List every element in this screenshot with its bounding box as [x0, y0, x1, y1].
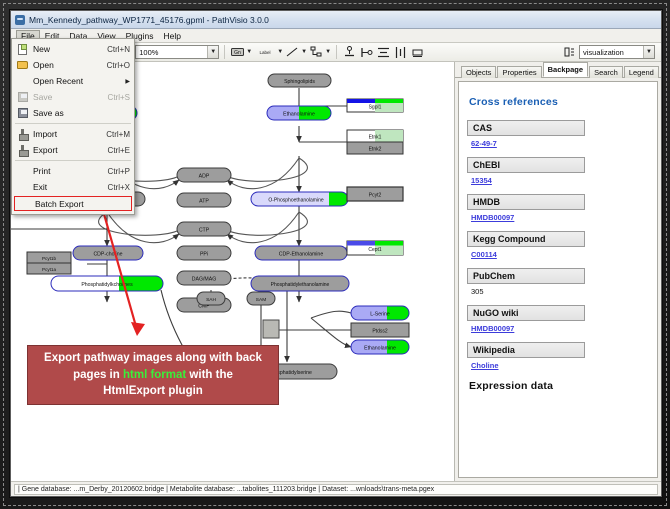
file-menu-label: Open Recent	[33, 76, 125, 86]
node-label: Phosphatidylkcholines	[81, 282, 133, 288]
chevron-down-icon[interactable]: ▼	[246, 49, 252, 55]
save-disk-icon	[16, 91, 29, 104]
tab-legend[interactable]: Legend	[624, 66, 659, 78]
file-menu-dropdown[interactable]: New Ctrl+N Open Ctrl+O Open Recent ▶ Sav…	[11, 38, 135, 215]
file-menu-shortcut: Ctrl+O	[101, 61, 130, 70]
xref-value[interactable]: C00114	[467, 250, 649, 259]
node-sah[interactable]: SAH	[197, 292, 225, 305]
callout-line-2-pre: pages in	[73, 369, 123, 381]
xref-key: NuGO wiki	[467, 305, 585, 321]
svg-text:Gn: Gn	[234, 50, 241, 56]
sidebar-tabstrip: Objects Properties Backpage Search Legen…	[455, 62, 661, 78]
gene-label: Etnk1	[369, 135, 382, 141]
gene-label: Pcyt2	[369, 193, 382, 199]
cross-references-heading: Cross references	[469, 96, 649, 108]
gene-label: Pcyt1a	[42, 267, 56, 272]
chevron-down-icon[interactable]: ▼	[643, 46, 654, 58]
statusbar: | Gene database: ...m_Derby_20120602.bri…	[11, 481, 661, 496]
xref-link[interactable]: HMDB00097	[471, 324, 514, 333]
label-icon[interactable]: Label	[254, 45, 276, 60]
file-menu-item-import[interactable]: Import Ctrl+M	[12, 126, 134, 142]
xref-value[interactable]: HMDB00097	[467, 213, 649, 222]
node-phosphatidylethanolamine[interactable]: Phosphatidylethanolamine	[251, 276, 349, 291]
callout-line-2-post: with the	[186, 369, 233, 381]
xref-value[interactable]: Choline	[467, 361, 649, 370]
toolbar-separator	[336, 45, 337, 59]
screenshot-root: Mm_Kennedy_pathway_WP1771_45176.gpml - P…	[0, 0, 670, 509]
node-label: L-Serine	[370, 311, 390, 317]
file-menu-item-open[interactable]: Open Ctrl+O	[12, 57, 134, 73]
node-cdp-ethanolamine[interactable]: CDP-Ethanolamine	[255, 246, 347, 260]
gene-sgpl1[interactable]: Sgpl1	[347, 99, 403, 112]
file-menu-shortcut: Ctrl+X	[102, 183, 130, 192]
tab-objects[interactable]: Objects	[461, 66, 496, 78]
zoom-combobox[interactable]: 100% ▼	[135, 45, 219, 59]
statusbar-text: | Gene database: ...m_Derby_20120602.bri…	[14, 484, 658, 495]
chevron-right-icon: ▶	[125, 78, 130, 85]
xref-key: ChEBI	[467, 157, 585, 173]
visualization-combobox[interactable]: visualization ▼	[579, 45, 655, 59]
file-menu-label: Exit	[33, 182, 102, 192]
node-label: ADP	[199, 173, 210, 179]
sidebar: Objects Properties Backpage Search Legen…	[455, 62, 661, 481]
file-menu-item-save-as[interactable]: Save as	[12, 105, 134, 121]
gene-cept1[interactable]: Cept1	[347, 241, 403, 255]
visualization-value: visualization	[583, 48, 643, 57]
tab-backpage[interactable]: Backpage	[543, 62, 588, 77]
file-menu-label: Save as	[33, 108, 124, 118]
xref-cas: CAS 62-49-7	[467, 120, 649, 148]
datanode-icon[interactable]: Gn	[230, 45, 245, 60]
file-menu-item-new[interactable]: New Ctrl+N	[12, 41, 134, 57]
node-label: DAG/MAG	[192, 276, 217, 282]
line-icon[interactable]	[285, 45, 300, 60]
xref-chebi: ChEBI 15354	[467, 157, 649, 185]
gene-pcyt1a[interactable]: Pcyt1a	[27, 263, 71, 274]
node-o-phosphoethanolamine[interactable]: O-Phosphoethanolamine	[251, 192, 348, 206]
new-document-icon	[16, 43, 29, 56]
file-menu-label: Save	[33, 92, 102, 102]
blank-icon	[16, 165, 29, 178]
callout-line-1: Export pathway images along with back	[44, 350, 262, 367]
file-menu-item-save: Save Ctrl+S	[12, 89, 134, 105]
node-cdp-choline[interactable]: CDP-choline	[73, 246, 143, 260]
xref-value: 305	[467, 287, 649, 296]
export-icon	[16, 144, 29, 157]
xref-link[interactable]: 15354	[471, 176, 492, 185]
gene-ptdss2[interactable]: Ptdss2	[351, 323, 409, 337]
callout-highlight: html format	[123, 369, 186, 381]
node-label: Sphingolipids	[284, 79, 315, 85]
gene-pcyt2[interactable]: Pcyt2	[347, 187, 403, 201]
node-adp[interactable]: ADP	[177, 168, 231, 182]
node-l-serine[interactable]: L-Serine	[351, 306, 409, 320]
node-label: SAH	[206, 297, 216, 303]
node-label: CTP	[199, 227, 210, 233]
file-menu-shortcut: Ctrl+S	[102, 93, 130, 102]
xref-key: Kegg Compound	[467, 231, 585, 247]
group-icon[interactable]	[410, 45, 425, 60]
file-menu-shortcut: Ctrl+M	[100, 130, 130, 139]
svg-text:Label: Label	[260, 50, 271, 55]
node-ethanolamine-2[interactable]: Ethanolamine	[351, 340, 409, 354]
node-sam[interactable]: SAM	[247, 292, 275, 305]
xref-link[interactable]: HMDB00097	[471, 213, 514, 222]
datanode-tool-group[interactable]: Gn ▼	[230, 45, 252, 60]
xref-value[interactable]: 62-49-7	[467, 139, 649, 148]
xref-link[interactable]: C00114	[471, 250, 497, 259]
file-menu-label: Export	[33, 145, 102, 155]
xref-key: CAS	[467, 120, 585, 136]
node-label: CDP-Ethanolamine	[279, 251, 324, 257]
node-label: ATP	[199, 198, 209, 204]
blank-icon	[16, 75, 29, 88]
file-menu-label: Batch Export	[35, 199, 128, 209]
xref-link[interactable]: 62-49-7	[471, 139, 497, 148]
gene-label: Pcyt1b	[42, 256, 56, 261]
blank-icon	[16, 181, 29, 194]
distribute-vertical-icon[interactable]	[376, 45, 391, 60]
node-phosphatidylcholines[interactable]: Phosphatidylkcholines	[51, 276, 163, 291]
gene-label: Sgpl1	[369, 105, 382, 111]
node-ctp[interactable]: CTP	[177, 222, 231, 236]
file-menu-label: Print	[33, 166, 102, 176]
menu-help[interactable]: Help	[159, 30, 186, 42]
xref-key: Wikipedia	[467, 342, 585, 358]
file-menu-shortcut: Ctrl+P	[102, 167, 130, 176]
pathvisio-icon	[15, 15, 25, 25]
xref-key: HMDB	[467, 194, 585, 210]
xref-value[interactable]: 15354	[467, 176, 649, 185]
distribute-horizontal-icon[interactable]	[393, 45, 408, 60]
expression-data-heading: Expression data	[469, 380, 649, 392]
node-label: CDP-choline	[93, 251, 122, 257]
import-icon	[16, 128, 29, 141]
align-top-icon[interactable]	[342, 45, 357, 60]
line-tool-group[interactable]: ▼	[285, 45, 307, 60]
menu-separator	[15, 123, 131, 124]
save-as-disk-icon	[16, 107, 29, 120]
align-left-icon[interactable]	[359, 45, 374, 60]
toolbar-separator	[224, 45, 225, 59]
gene-label: Etnk2	[369, 147, 382, 153]
node-dag-mag[interactable]: DAG/MAG	[177, 271, 231, 285]
node-ethanolamine[interactable]: Ethanolamine	[267, 106, 331, 120]
chevron-down-icon[interactable]: ▼	[325, 49, 331, 55]
file-menu-item-batch-export[interactable]: Batch Export	[14, 196, 132, 211]
file-menu-label: New	[33, 44, 101, 54]
xref-value[interactable]: HMDB00097	[467, 324, 649, 333]
backpage-content[interactable]: Cross references CAS 62-49-7 ChEBI 15354…	[458, 81, 658, 478]
file-menu-item-exit[interactable]: Exit Ctrl+X	[12, 179, 134, 195]
callout-line-2: pages in html format with the	[73, 367, 233, 384]
annotation-callout: Export pathway images along with back pa…	[27, 345, 279, 405]
visualization-icon[interactable]	[562, 45, 577, 60]
file-menu-item-print[interactable]: Print Ctrl+P	[12, 163, 134, 179]
file-menu-label: Import	[33, 129, 100, 139]
chevron-down-icon[interactable]: ▼	[301, 49, 307, 55]
gene-label: Cept1	[368, 247, 382, 253]
xref-key: PubChem	[467, 268, 585, 284]
zoom-value: 100%	[139, 48, 207, 57]
xref-wikipedia: Wikipedia Choline	[467, 342, 649, 370]
gene-etnk2[interactable]: Etnk2	[347, 142, 403, 154]
window-titlebar: Mm_Kennedy_pathway_WP1771_45176.gpml - P…	[11, 11, 661, 29]
node-label: SAM	[256, 297, 266, 303]
gene-label: Ptdss2	[372, 329, 388, 335]
blank-icon	[18, 197, 31, 210]
node-label: Phosphatidylethanolamine	[271, 282, 330, 288]
label-tool-group[interactable]: Label ▼	[254, 45, 283, 60]
chevron-down-icon[interactable]: ▼	[277, 49, 283, 55]
xref-pubchem: PubChem 305	[467, 268, 649, 296]
tab-search[interactable]: Search	[589, 66, 623, 78]
node-sphingolipids[interactable]: Sphingolipids	[268, 74, 331, 87]
file-menu-item-export[interactable]: Export Ctrl+E	[12, 142, 134, 158]
file-menu-shortcut: Ctrl+E	[102, 146, 130, 155]
xref-link[interactable]: Choline	[471, 361, 499, 370]
window-title: Mm_Kennedy_pathway_WP1771_45176.gpml - P…	[29, 15, 269, 25]
xref-nugo-wiki: NuGO wiki HMDB00097	[467, 305, 649, 333]
file-menu-shortcut: Ctrl+N	[101, 45, 130, 54]
chevron-down-icon[interactable]: ▼	[207, 46, 218, 58]
node-label: O-Phosphoethanolamine	[268, 197, 324, 203]
gene-pcyt1b[interactable]: Pcyt1b	[27, 252, 71, 263]
xref-kegg-compound: Kegg Compound C00114	[467, 231, 649, 259]
node-label: PPi	[200, 251, 208, 257]
tab-properties[interactable]: Properties	[497, 66, 541, 78]
interaction-tool-group[interactable]: ▼	[309, 45, 331, 60]
node-label: Ethanolamine	[283, 111, 315, 117]
node-atp[interactable]: ATP	[177, 193, 231, 207]
node-label: Ethanolamine	[364, 345, 396, 351]
open-folder-icon	[16, 59, 29, 72]
menu-separator	[15, 160, 131, 161]
file-menu-item-open-recent[interactable]: Open Recent ▶	[12, 73, 134, 89]
xref-hmdb: HMDB HMDB00097	[467, 194, 649, 222]
gene-etnk1[interactable]: Etnk1	[347, 130, 403, 142]
file-menu-label: Open	[33, 60, 101, 70]
interaction-icon[interactable]	[309, 45, 324, 60]
callout-line-3: HtmlExport plugin	[103, 383, 203, 400]
node-ppi[interactable]: PPi	[177, 246, 231, 260]
